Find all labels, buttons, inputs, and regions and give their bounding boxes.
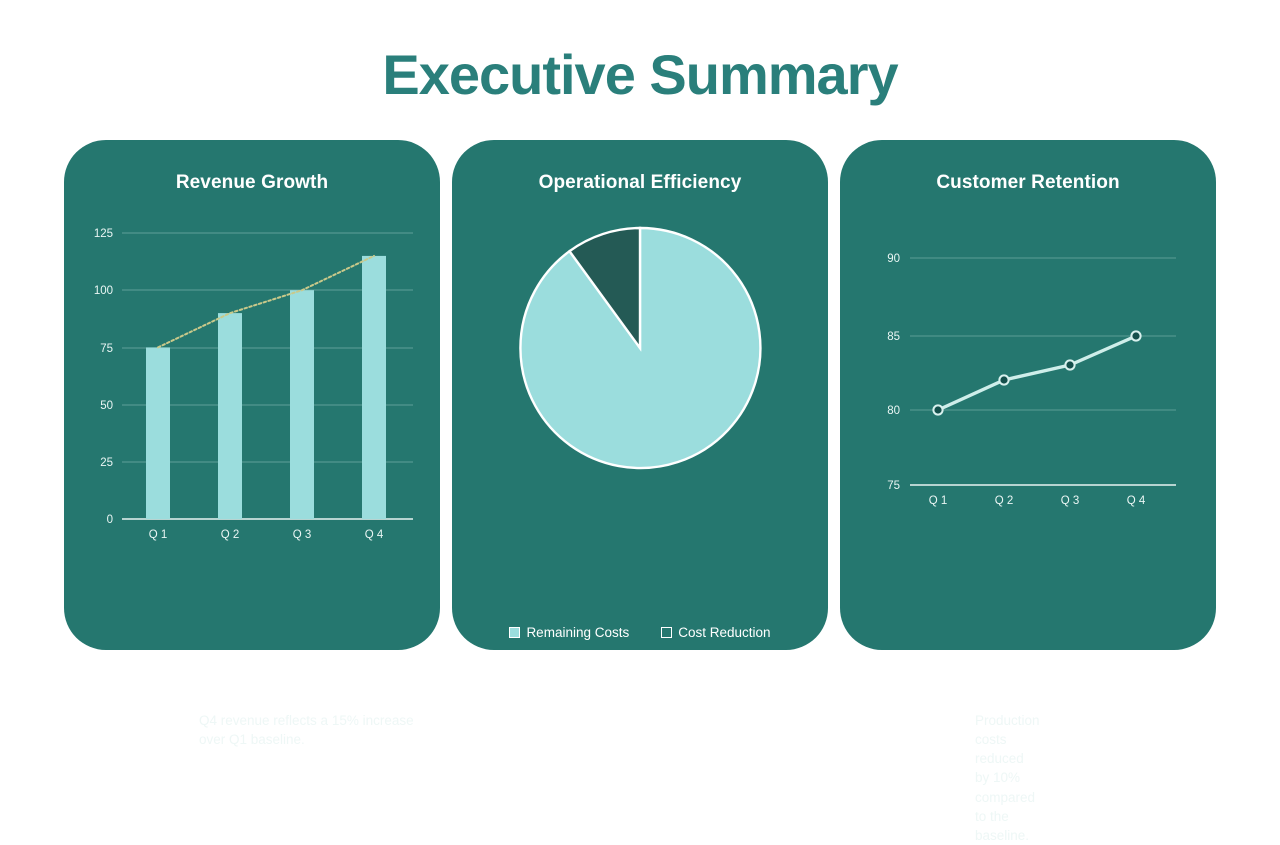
bullet-text-revenue-growth: Q4 revenue reflects a 15% increase over …: [199, 711, 440, 749]
x-tick-q1: Q 1: [149, 529, 168, 541]
value-box-remaining-costs[interactable]: 90%: [522, 661, 626, 691]
card-revenue-growth: Revenue Growth 125 100 75 50 25 0: [64, 140, 440, 650]
y-tick-25: 25: [100, 457, 113, 469]
value-box-cost-reduction[interactable]: 10%: [654, 661, 758, 691]
data-point-q3[interactable]: [1065, 360, 1074, 369]
legend-swatch-filled-icon: [509, 627, 520, 638]
y-tick-0: 0: [107, 514, 113, 526]
data-point-q4[interactable]: [1131, 331, 1140, 340]
x-axis-tick-labels: Q 1 Q 2 Q 3 Q 4: [929, 495, 1146, 507]
circle-outline-icon: [950, 717, 963, 730]
operational-efficiency-pie-chart: [452, 140, 828, 560]
bar-q2[interactable]: [218, 313, 242, 519]
y-tick-75: 75: [887, 480, 900, 492]
bullet-operational-efficiency: Production costs reduced by 10% compared…: [950, 711, 1040, 845]
bar-series: [146, 256, 386, 519]
y-tick-80: 80: [887, 405, 900, 417]
data-point-q2[interactable]: [999, 375, 1008, 384]
legend-swatch-hollow-icon: [661, 627, 672, 638]
bar-q3[interactable]: [290, 290, 314, 519]
y-tick-100: 100: [94, 285, 113, 297]
y-axis-tick-labels: 125 100 75 50 25 0: [94, 228, 113, 526]
y-tick-50: 50: [100, 400, 113, 412]
x-tick-q2: Q 2: [221, 529, 240, 541]
legend-label-cost-reduction: Cost Reduction: [678, 625, 770, 640]
legend-label-remaining-costs: Remaining Costs: [526, 625, 629, 640]
retention-line-series: [938, 336, 1136, 410]
customer-retention-line-chart: 90 85 80 75 Q 1 Q 2 Q 3 Q 4: [840, 140, 1216, 560]
circle-outline-icon: [174, 717, 187, 730]
x-tick-q4: Q 4: [365, 529, 384, 541]
value-boxes: 90% 10%: [452, 661, 828, 691]
y-axis-tick-labels: 90 85 80 75: [887, 253, 900, 492]
revenue-growth-bar-chart: 125 100 75 50 25 0 Q 1 Q 2 Q 3 Q: [64, 140, 440, 560]
slide-canvas: Executive Summary Revenue Growth 125 100…: [0, 0, 1280, 720]
x-tick-q1: Q 1: [929, 495, 948, 507]
y-tick-75: 75: [100, 343, 113, 355]
bullet-revenue-growth: Q4 revenue reflects a 15% increase over …: [174, 711, 440, 749]
x-axis-tick-labels: Q 1 Q 2 Q 3 Q 4: [149, 529, 384, 541]
legend-item-cost-reduction[interactable]: Cost Reduction: [661, 625, 770, 640]
trend-line: [158, 256, 374, 348]
page-title: Executive Summary: [0, 44, 1280, 106]
x-tick-q3: Q 3: [293, 529, 312, 541]
x-tick-q3: Q 3: [1061, 495, 1080, 507]
card-operational-efficiency: Operational Efficiency Remaining Costs C…: [452, 140, 828, 650]
bar-q1[interactable]: [146, 347, 170, 519]
y-tick-125: 125: [94, 228, 113, 240]
pie-legend: Remaining Costs Cost Reduction: [452, 625, 828, 640]
card-customer-retention: Customer Retention 90 85 80 75: [840, 140, 1216, 650]
x-tick-q4: Q 4: [1127, 495, 1146, 507]
bullet-text-operational-efficiency: Production costs reduced by 10% compared…: [975, 711, 1040, 845]
data-point-q1[interactable]: [933, 405, 942, 414]
legend-item-remaining-costs[interactable]: Remaining Costs: [509, 625, 629, 640]
y-tick-85: 85: [887, 331, 900, 343]
bar-q4[interactable]: [362, 256, 386, 519]
y-tick-90: 90: [887, 253, 900, 265]
x-tick-q2: Q 2: [995, 495, 1014, 507]
